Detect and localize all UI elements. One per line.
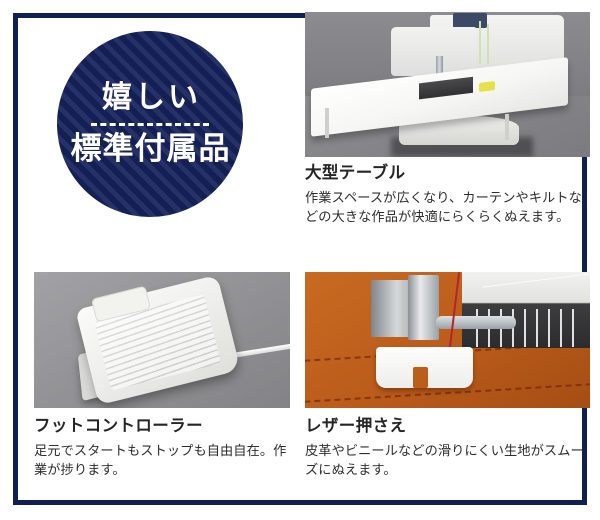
- leather-presser-foot-title: レザー押さえ: [305, 416, 590, 437]
- standard-accessories-badge: 嬉しい 標準付属品: [57, 31, 243, 217]
- badge-cell: 嬉しい 標準付属品: [0, 0, 300, 258]
- large-table-description: 作業スペースが広くなり、カーテンやキルトなどの大きな作品が快適にらくらくぬえます…: [305, 188, 590, 226]
- feature-grid: 嬉しい 標準付属品: [0, 0, 600, 520]
- badge-content: 嬉しい 標準付属品: [57, 82, 243, 165]
- foot-controller-description: 足元でスタートもストップも自由自在。作業が捗ります。: [34, 441, 296, 479]
- leather-presser-foot-description: 皮革やビニールなどの滑りにくい生地がスムーズにぬえます。: [305, 441, 590, 479]
- leather-presser-foot-photo: [305, 272, 590, 408]
- foot-controller-photo: [34, 272, 290, 408]
- foot-controller-caption: フットコントローラー 足元でスタートもストップも自由自在。作業が捗ります。: [34, 416, 296, 479]
- large-table-caption: 大型テーブル 作業スペースが広くなり、カーテンやキルトなどの大きな作品が快適にら…: [305, 163, 590, 226]
- feature-large-table: 大型テーブル 作業スペースが広くなり、カーテンやキルトなどの大きな作品が快適にら…: [300, 0, 600, 258]
- feature-foot-controller: フットコントローラー 足元でスタートもストップも自由自在。作業が捗ります。: [0, 258, 300, 520]
- large-table-title: 大型テーブル: [305, 163, 590, 184]
- feature-leather-presser-foot: レザー押さえ 皮革やビニールなどの滑りにくい生地がスムーズにぬえます。: [300, 258, 600, 520]
- badge-line-2: 標準付属品: [70, 133, 231, 166]
- leather-presser-foot-caption: レザー押さえ 皮革やビニールなどの滑りにくい生地がスムーズにぬえます。: [305, 416, 590, 479]
- badge-dashed-divider: [91, 123, 209, 126]
- accessories-feature-panel: 嬉しい 標準付属品: [0, 0, 600, 520]
- badge-line-1: 嬉しい: [99, 82, 201, 114]
- large-extension-table-photo: [305, 12, 590, 157]
- foot-controller-title: フットコントローラー: [34, 416, 296, 437]
